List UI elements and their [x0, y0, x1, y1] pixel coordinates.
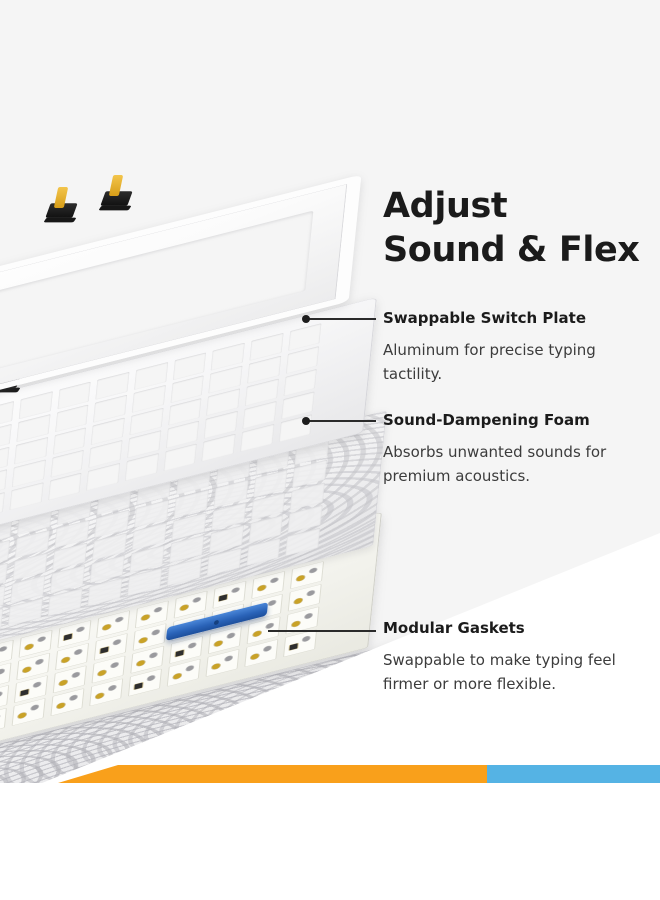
leader-line-gaskets — [268, 630, 376, 632]
leader-line-switch-plate — [306, 318, 376, 320]
headline-line-2: Sound & Flex — [383, 230, 639, 270]
mechanical-switch — [103, 173, 130, 207]
feature-body: Absorbs unwanted sounds for premium acou… — [383, 440, 645, 488]
leader-dot — [302, 417, 310, 425]
feature-modular-gaskets: Modular Gaskets Swappable to make typing… — [383, 618, 645, 696]
feature-title: Sound-Dampening Foam — [383, 410, 645, 431]
brand-bar-orange-segment — [0, 765, 487, 783]
mechanical-switch — [48, 185, 75, 219]
feature-swappable-switch-plate: Swappable Switch Plate Aluminum for prec… — [383, 308, 645, 386]
brand-color-bar — [0, 765, 660, 783]
feature-title: Swappable Switch Plate — [383, 308, 645, 329]
feature-body: Swappable to make typing feel firmer or … — [383, 648, 645, 696]
feature-body: Aluminum for precise typing tactility. — [383, 338, 645, 386]
leader-dot — [302, 315, 310, 323]
feature-sound-dampening-foam: Sound-Dampening Foam Absorbs unwanted so… — [383, 410, 645, 488]
leader-line-foam — [306, 420, 376, 422]
brand-bar-blue-segment — [487, 765, 660, 783]
copy-column: Adjust Sound & Flex Swappable Switch Pla… — [383, 184, 645, 272]
feature-title: Modular Gaskets — [383, 618, 645, 639]
product-feature-graphic: MMK — [0, 0, 660, 900]
page-title: Adjust Sound & Flex — [383, 184, 645, 272]
headline-line-1: Adjust — [383, 186, 507, 226]
